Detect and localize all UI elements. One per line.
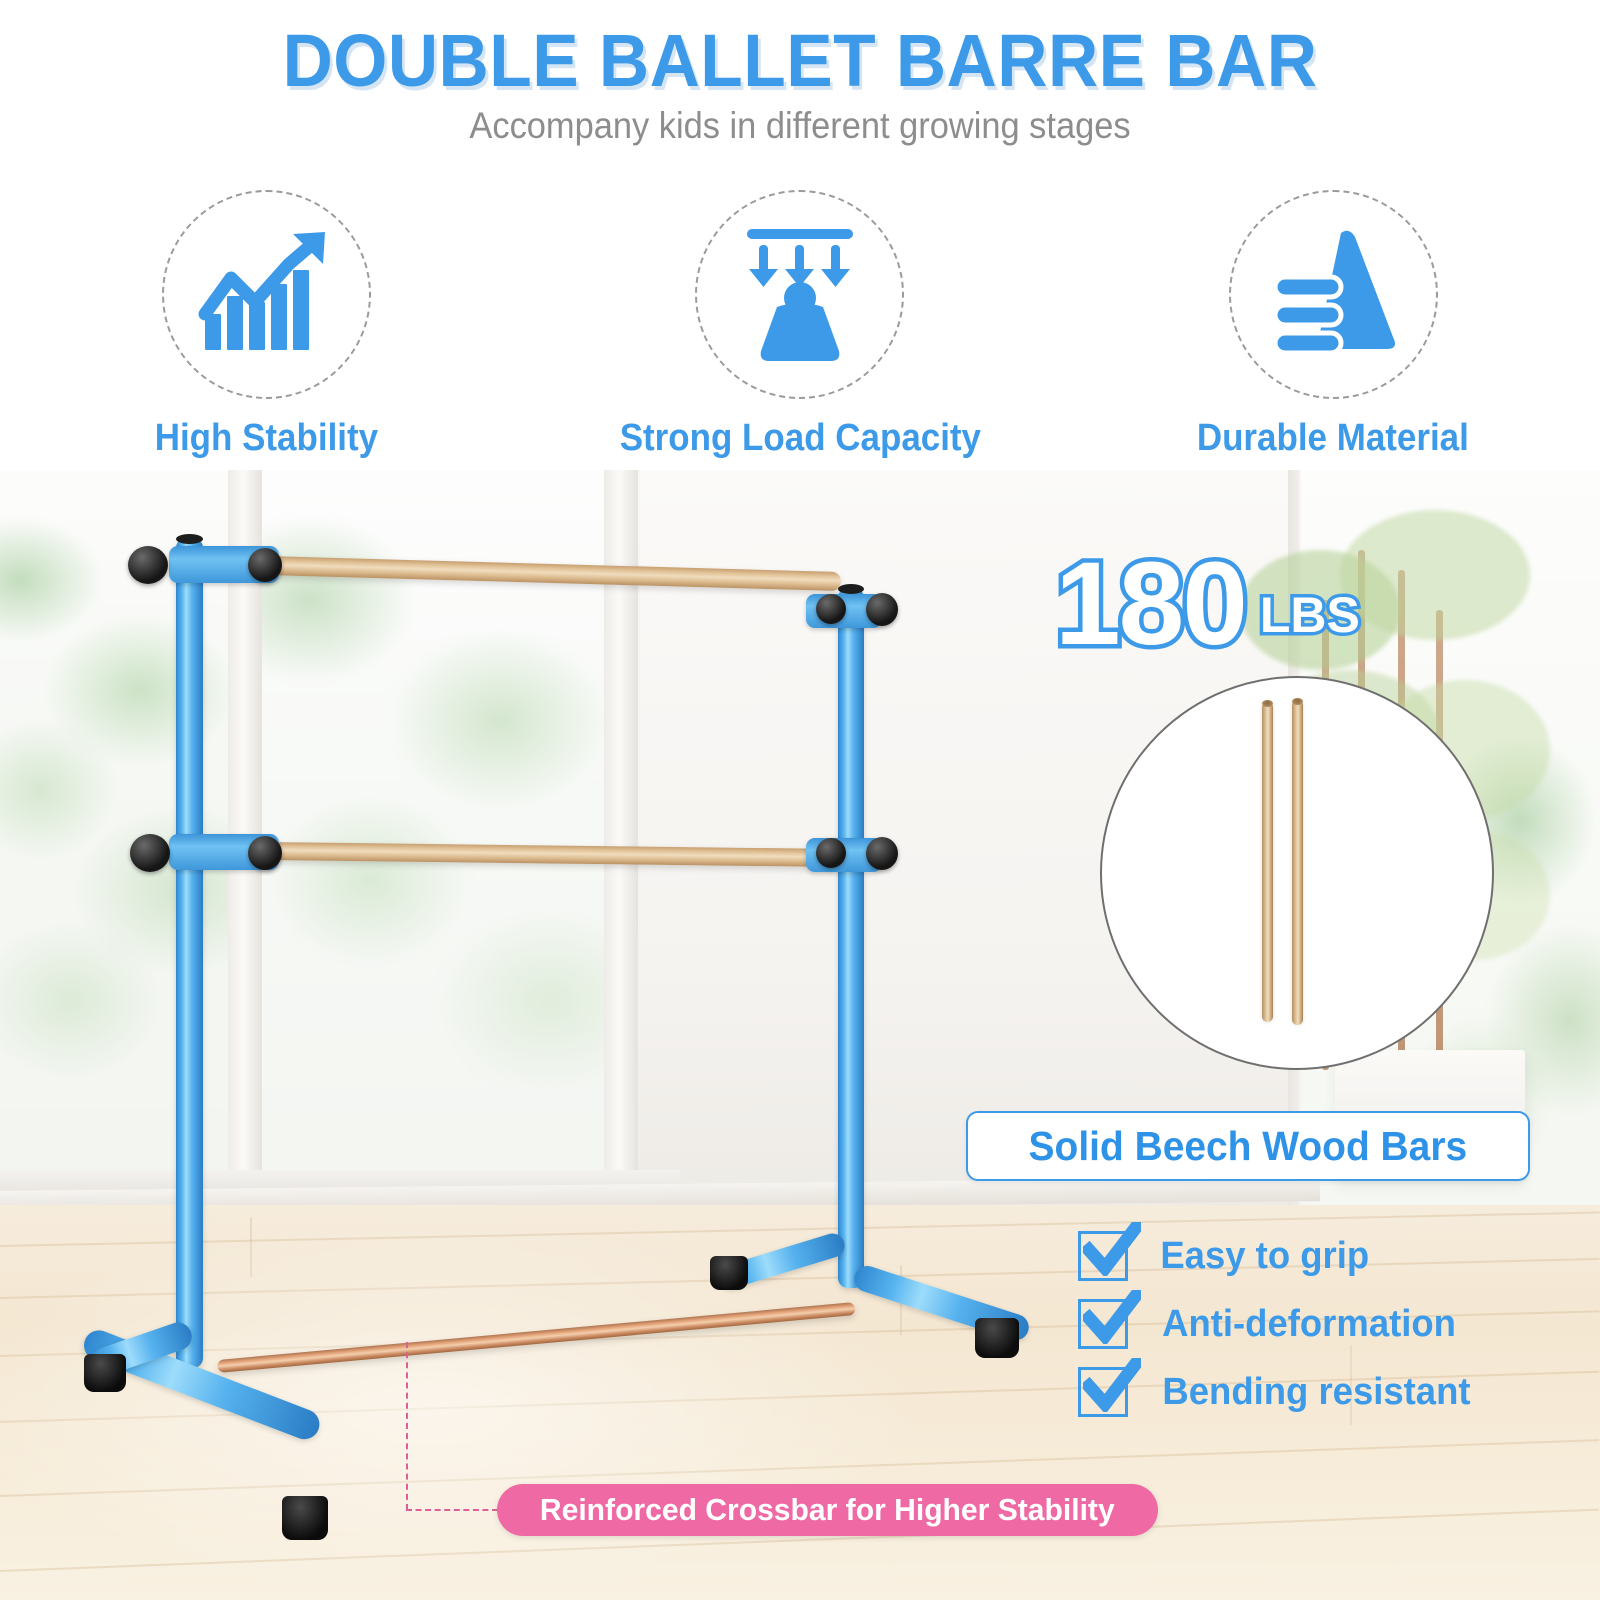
feature-row: High Stability Str [0, 190, 1600, 480]
feature-label: High Stability [155, 417, 378, 460]
wood-badge-label: Solid Beech Wood Bars [1029, 1123, 1468, 1170]
growth-chart-icon [197, 230, 337, 360]
window-mullion [604, 470, 638, 1230]
checklist-label: Anti-deformation [1162, 1303, 1456, 1346]
checkbox-checked-icon [1078, 1299, 1128, 1349]
checklist-item: Easy to grip [1078, 1222, 1548, 1290]
check-mark-icon [1083, 1222, 1141, 1276]
solid-beech-wood-badge: Solid Beech Wood Bars [966, 1111, 1530, 1181]
check-mark-icon [1083, 1290, 1141, 1344]
checkbox-checked-icon [1078, 1231, 1128, 1281]
feature-strong-load-capacity: Strong Load Capacity [533, 190, 1066, 480]
layered-material-icon [1263, 225, 1403, 365]
check-mark-icon [1083, 1358, 1141, 1412]
load-weight-icon [735, 225, 865, 365]
callout-label: Reinforced Crossbar for Higher Stability [540, 1492, 1115, 1528]
feature-label: Durable Material [1197, 417, 1469, 460]
feature-icon-circle [1229, 190, 1438, 399]
checklist-label: Bending resistant [1162, 1371, 1470, 1414]
checklist-item: Bending resistant [1078, 1358, 1548, 1426]
page-title: DOUBLE BALLET BARRE BAR [48, 18, 1552, 103]
checklist-label: Easy to grip [1160, 1235, 1369, 1278]
feature-icon-circle [162, 190, 371, 399]
callout-leader-vertical [406, 1342, 408, 1510]
capacity-value: 180 [1055, 548, 1246, 660]
wood-bars-inset [1100, 676, 1494, 1070]
feature-high-stability: High Stability [0, 190, 533, 480]
infographic-canvas: DOUBLE BALLET BARRE BAR Accompany kids i… [0, 0, 1600, 1600]
load-capacity-callout: 180 LBS [1055, 548, 1360, 660]
capacity-unit: LBS [1260, 586, 1360, 644]
feature-icon-circle [695, 190, 904, 399]
window-pane-middle [250, 470, 620, 1220]
feature-label: Strong Load Capacity [619, 417, 980, 460]
window-mullion [228, 470, 262, 1230]
benefits-checklist: Easy to grip Anti-deformation Bending re… [1078, 1222, 1548, 1426]
checklist-item: Anti-deformation [1078, 1290, 1548, 1358]
reinforced-crossbar-callout: Reinforced Crossbar for Higher Stability [497, 1484, 1158, 1536]
checkbox-checked-icon [1078, 1367, 1128, 1417]
feature-durable-material: Durable Material [1067, 190, 1600, 480]
callout-leader-horizontal [406, 1509, 498, 1511]
page-subtitle: Accompany kids in different growing stag… [56, 105, 1544, 147]
